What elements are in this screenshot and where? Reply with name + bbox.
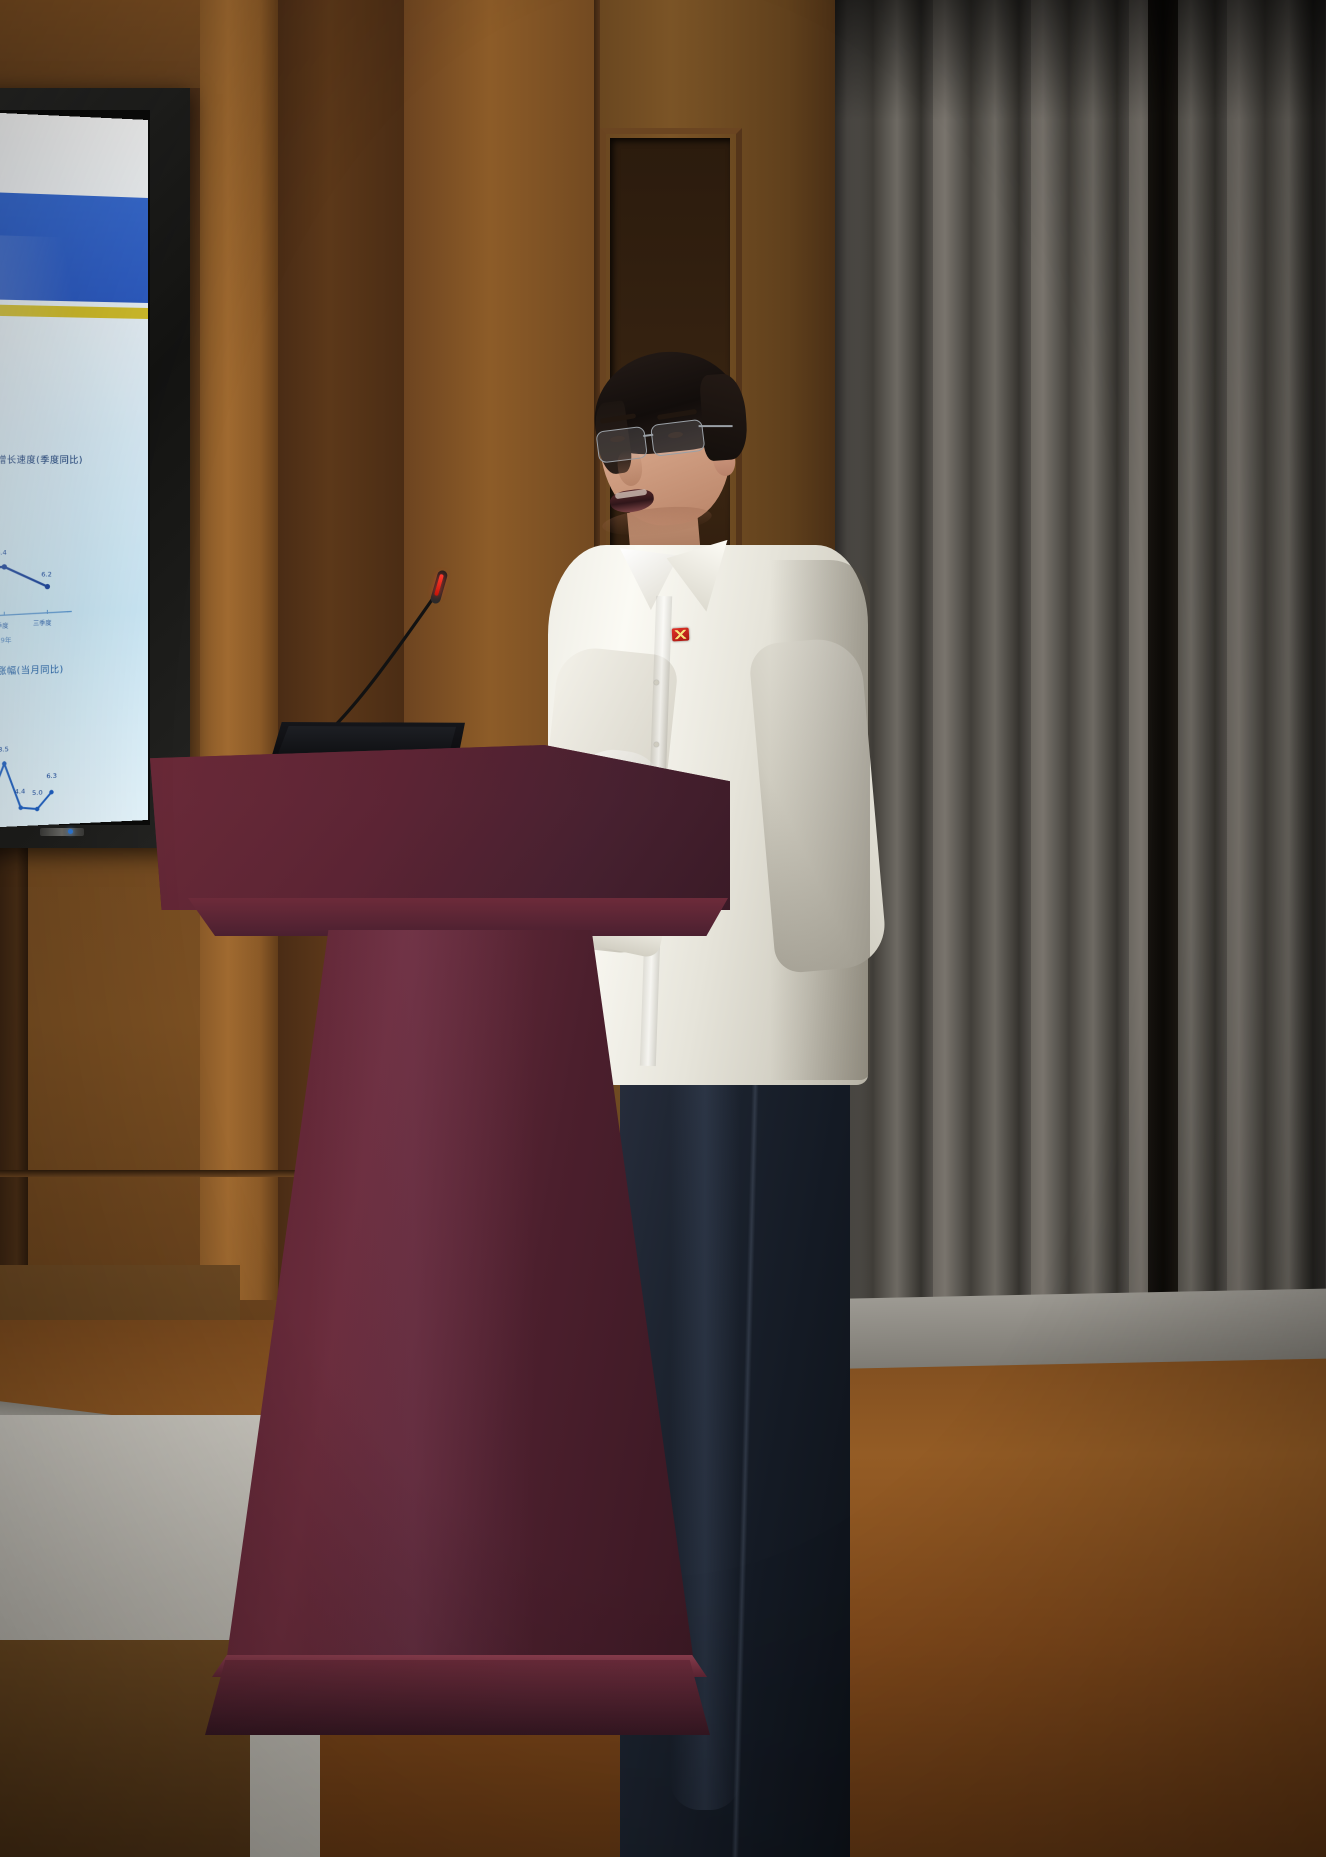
chart-2-title: 居民消费价格涨幅(当月同比): [0, 661, 92, 678]
chart-1-xlabel-year: 2019年: [0, 634, 12, 645]
chart-1-gdp-line: 6.4 6.4 6.2 一季度 二季度 三季度 2019年: [0, 515, 88, 650]
presentation-slide: 国内生产总值增长速度(季度同比) 6.4 6.4 6.2 一季度 二季度 三季度…: [0, 110, 148, 830]
chart-2-series-line: [0, 762, 51, 814]
wall-panel-above-screen: [0, 0, 200, 88]
curtain-right-shadow: [1286, 0, 1326, 1480]
wall-lower-shadow: [0, 1640, 250, 1857]
chart-1-value-q2: 6.4: [0, 548, 7, 556]
chart-1-value-q3: 6.2: [41, 570, 52, 578]
chart-2-point-8: [49, 790, 53, 795]
chart-1-title: 国内生产总值增长速度(季度同比): [0, 453, 82, 466]
chart-1-xtick-q3: 三季度: [33, 618, 51, 628]
stage-curtain: [835, 0, 1326, 1480]
shirt-shadow: [770, 560, 870, 1080]
shirt-button-1: [654, 680, 659, 685]
eyeglass-temple: [699, 425, 733, 427]
chart-2-point-7: [35, 807, 40, 812]
chart-2-value-6: 4.4: [15, 787, 26, 796]
eyeglass-lens-right: [650, 419, 706, 457]
shirt-button-2: [654, 742, 659, 747]
party-emblem-icon: [675, 630, 686, 640]
chart-1-xtick-q2: 二季度: [0, 621, 8, 631]
slide-header-band: [0, 190, 148, 303]
wall-panel-column-1: [200, 0, 280, 1300]
podium-front-panel: [150, 745, 730, 910]
display-brand-logo: [40, 828, 84, 836]
curtain-top-shadow: [835, 0, 1326, 120]
chart-2-value-7: 5.0: [32, 789, 43, 798]
chart-2-svg: [0, 722, 90, 830]
slide-accent-rule: [0, 303, 148, 319]
display-power-led: [68, 829, 73, 834]
curtain-fold-gap: [1148, 0, 1178, 1470]
chart-2-value-8: 6.3: [46, 772, 57, 781]
podium-base: [205, 1660, 710, 1735]
chart-1-svg: [0, 515, 88, 650]
chart-2-cpi-line: 5.9 6.4 5.7 6.2 8.5 4.4 5.0 6.3: [0, 722, 90, 830]
conference-scene: 国内生产总值增长速度(季度同比) 6.4 6.4 6.2 一季度 二季度 三季度…: [0, 0, 1326, 1857]
chart-2-value-5: 8.5: [0, 745, 9, 754]
